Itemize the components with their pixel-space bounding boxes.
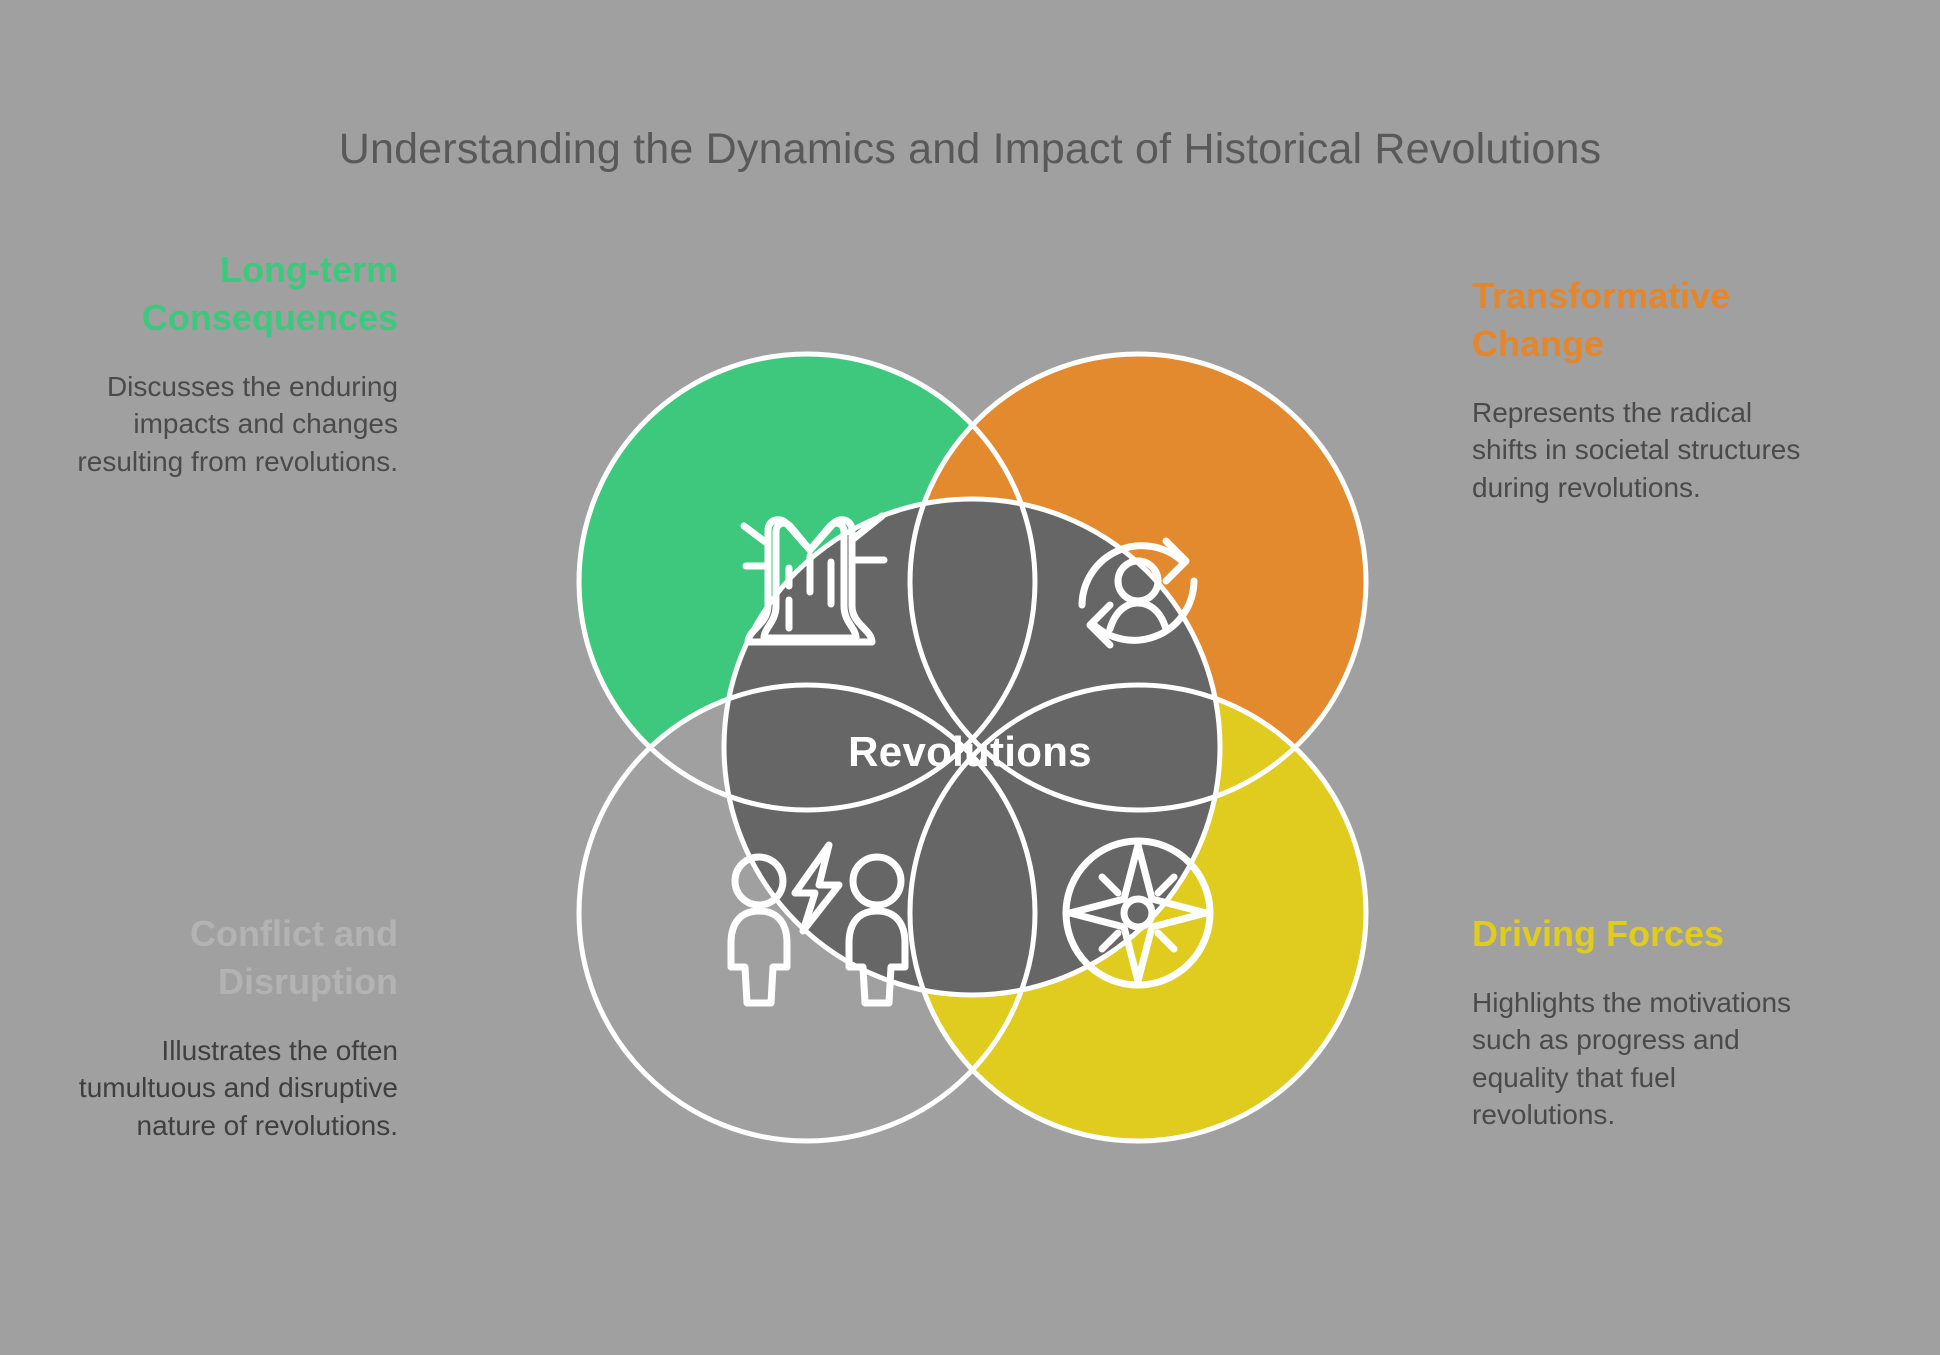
body-conflict-and-disruption: Illustrates the often tumultuous and dis…: [68, 1032, 398, 1145]
text-block-driving-forces: Driving Forces Highlights the motivation…: [1472, 910, 1802, 1134]
infographic-canvas: Understanding the Dynamics and Impact of…: [0, 0, 1940, 1355]
heading-driving-forces: Driving Forces: [1472, 910, 1802, 958]
body-long-term-consequences: Discusses the enduring impacts and chang…: [68, 368, 398, 481]
heading-conflict-and-disruption: Conflict and Disruption: [68, 910, 398, 1006]
text-block-conflict-and-disruption: Conflict and Disruption Illustrates the …: [68, 910, 398, 1144]
body-transformative-change: Represents the radical shifts in societa…: [1472, 394, 1802, 507]
text-block-transformative-change: Transformative Change Represents the rad…: [1472, 272, 1802, 506]
body-driving-forces: Highlights the motivations such as progr…: [1472, 984, 1802, 1134]
text-block-long-term-consequences: Long-term Consequences Discusses the end…: [68, 246, 398, 480]
page-title: Understanding the Dynamics and Impact of…: [0, 125, 1940, 174]
heading-transformative-change: Transformative Change: [1472, 272, 1802, 368]
venn-diagram: [480, 255, 1465, 1240]
heading-long-term-consequences: Long-term Consequences: [68, 246, 398, 342]
